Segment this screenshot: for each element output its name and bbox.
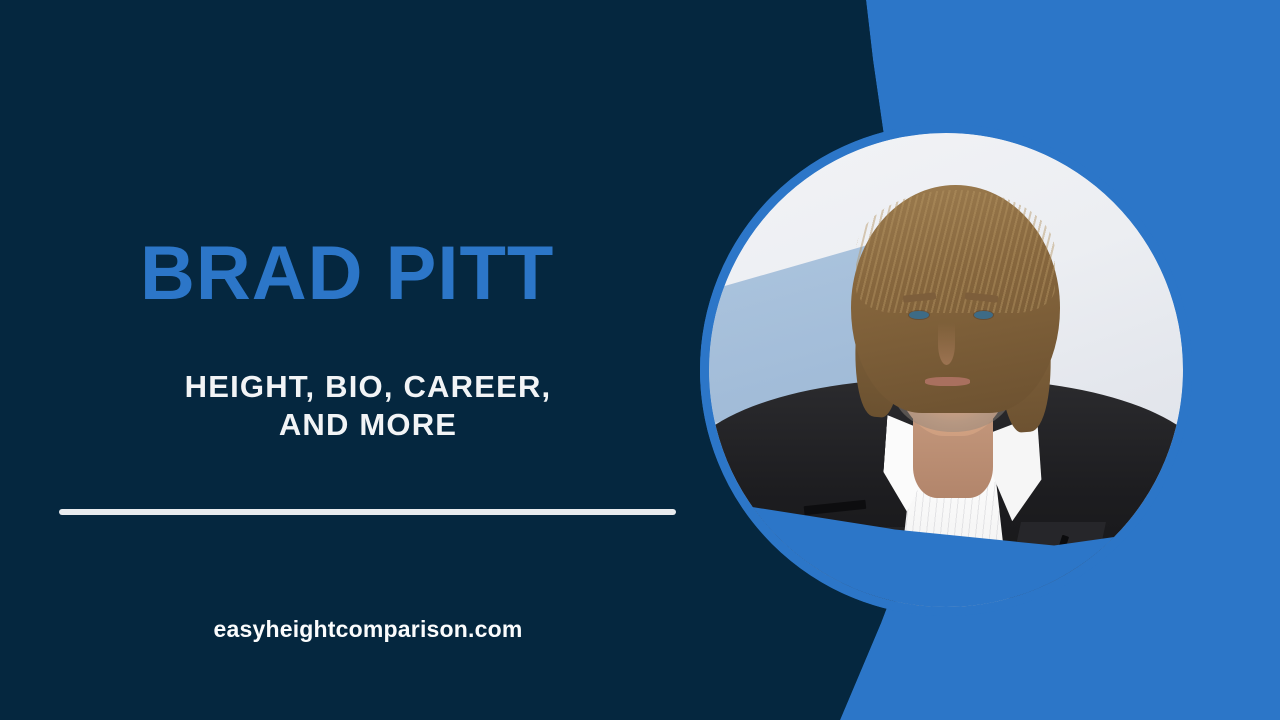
portrait-image-clip (709, 133, 1183, 607)
site-url: easyheightcomparison.com (60, 616, 676, 643)
divider-rule (59, 509, 676, 515)
page-title: BRAD PITT (140, 236, 554, 312)
page-subtitle: HEIGHT, BIO, CAREER, AND MORE (60, 368, 676, 444)
page-subtitle-line-2: AND MORE (60, 406, 676, 444)
portrait-photo (709, 133, 1183, 607)
portrait-circle (700, 124, 1192, 616)
page-subtitle-line-1: HEIGHT, BIO, CAREER, (60, 368, 676, 406)
hair-strand-texture (856, 190, 1055, 313)
mouth (925, 377, 970, 386)
banner-canvas: BRAD PITT HEIGHT, BIO, CAREER, AND MORE … (0, 0, 1280, 720)
